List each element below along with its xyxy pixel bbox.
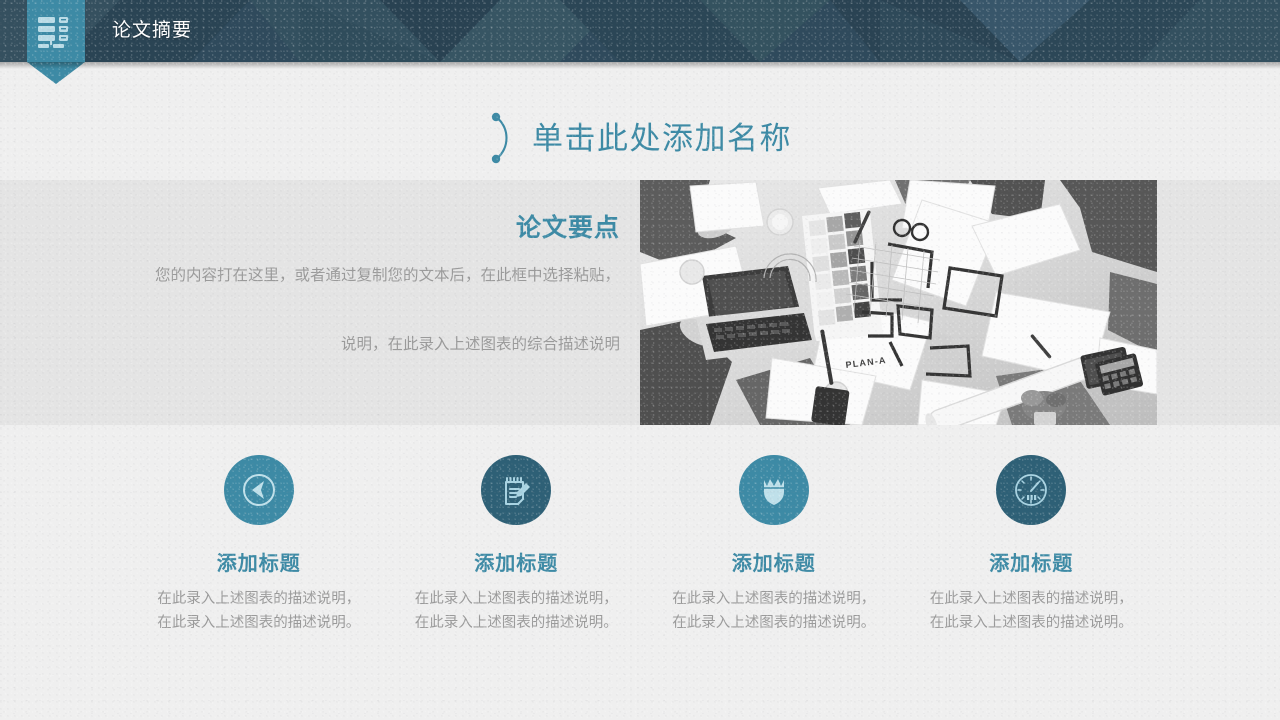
feature-item-2[interactable]: 添加标题 在此录入上述图表的描述说明，在此录入上述图表的描述说明。 [388, 455, 646, 636]
server-rack-icon [37, 16, 77, 48]
paper-points-body: 您的内容打在这里，或者通过复制您的文本后，在此框中选择粘贴， [150, 262, 620, 291]
feature-desc-2: 在此录入上述图表的描述说明，在此录入上述图表的描述说明。 [388, 588, 646, 636]
slide-title-group: 单击此处添加名称 [0, 108, 1280, 168]
feature-title-4: 添加标题 [903, 547, 1161, 576]
play-arrow-circle-icon [239, 470, 279, 510]
feature-columns: 添加标题 在此录入上述图表的描述说明，在此录入上述图表的描述说明。 [130, 455, 1160, 636]
feature-desc-4: 在此录入上述图表的描述说明，在此录入上述图表的描述说明。 [903, 588, 1161, 636]
slide-header-bar: 论文摘要 [0, 0, 1280, 62]
feature-title-1: 添加标题 [130, 547, 388, 576]
curly-brace-dot-ornament [488, 109, 518, 167]
feature-item-3[interactable]: 添加标题 在此录入上述图表的描述说明，在此录入上述图表的描述说明。 [645, 455, 903, 636]
gauge-clock-icon [1011, 470, 1051, 510]
feature-item-4[interactable]: 添加标题 在此录入上述图表的描述说明，在此录入上述图表的描述说明。 [903, 455, 1161, 636]
paper-points-heading: 论文要点 [150, 208, 620, 244]
header-drop-shadow [0, 62, 1280, 69]
feature-title-3: 添加标题 [645, 547, 903, 576]
feature-icon-wrap-4[interactable] [996, 455, 1066, 525]
feature-desc-3: 在此录入上述图表的描述说明，在此录入上述图表的描述说明。 [645, 588, 903, 636]
paper-points-note: 说明，在此录入上述图表的综合描述说明 [150, 331, 620, 360]
photo-illustration: PLAN-A [640, 180, 1157, 425]
feature-desc-1: 在此录入上述图表的描述说明，在此录入上述图表的描述说明。 [130, 588, 388, 636]
feature-title-2: 添加标题 [388, 547, 646, 576]
feature-item-1[interactable]: 添加标题 在此录入上述图表的描述说明，在此录入上述图表的描述说明。 [130, 455, 388, 636]
paper-points-block: 论文要点 您的内容打在这里，或者通过复制您的文本后，在此框中选择粘贴， 说明，在… [150, 208, 620, 359]
header-title: 论文摘要 [112, 0, 192, 62]
presentation-slide: 论文摘要 单击此处添加名称 [0, 0, 1280, 720]
feature-icon-wrap-3[interactable] [739, 455, 809, 525]
notepad-pencil-icon [496, 470, 536, 510]
feature-icon-wrap-1[interactable] [224, 455, 294, 525]
team-meeting-blueprints-photo: PLAN-A [640, 180, 1157, 425]
shield-crown-icon [754, 470, 794, 510]
page-title: 单击此处添加名称 [532, 123, 792, 154]
feature-icon-wrap-2[interactable] [481, 455, 551, 525]
